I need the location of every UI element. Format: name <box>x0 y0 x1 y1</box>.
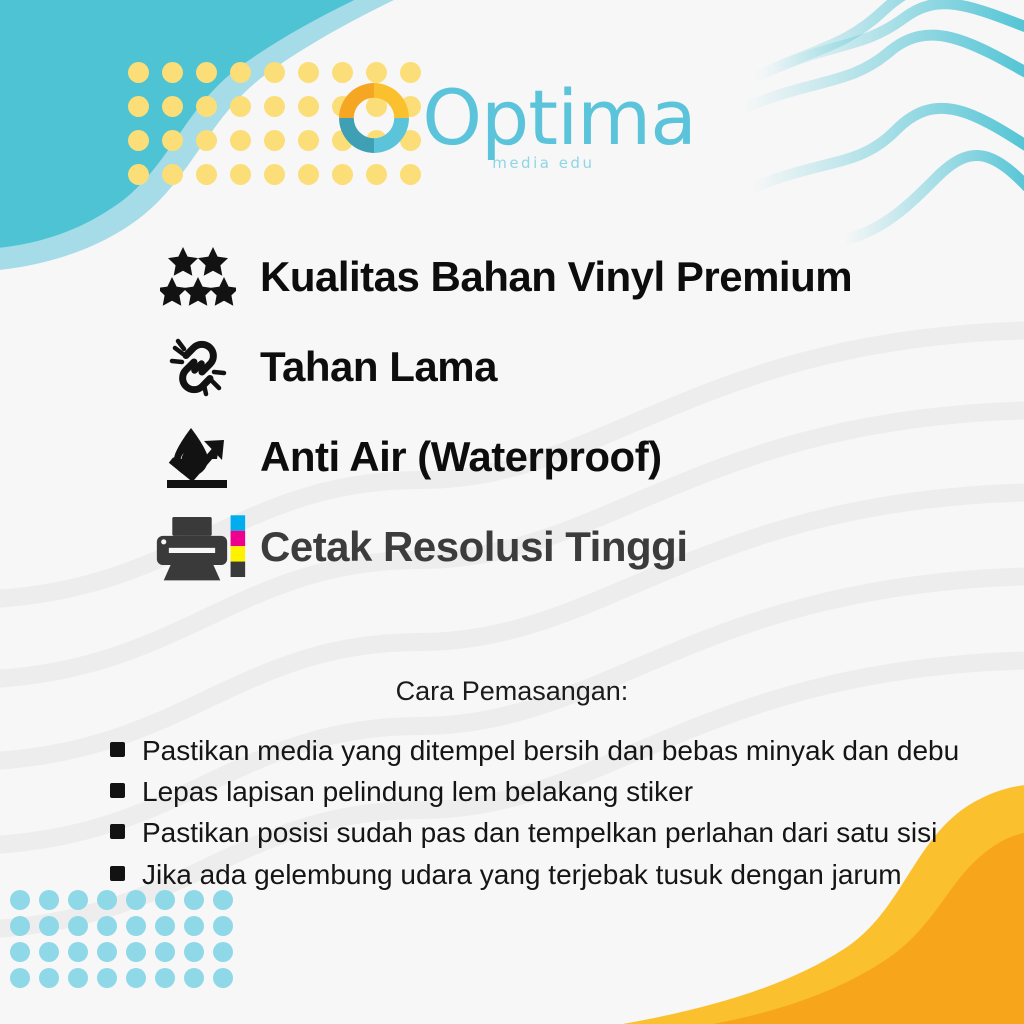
howto-step-text: Jika ada gelembung udara yang terjebak t… <box>142 856 902 893</box>
brand-name: Optima <box>422 82 696 154</box>
printer-cmyk-icon <box>150 508 246 586</box>
square-bullet-icon <box>110 824 125 839</box>
feature-row-resolution: Cetak Resolusi Tinggi <box>0 502 1024 592</box>
list-item: Pastikan posisi sudah pas dan tempelkan … <box>110 814 940 851</box>
howto-title: Cara Pemasangan: <box>0 676 1024 707</box>
product-feature-card: Optima media edu <box>0 0 1024 1024</box>
brand-logo: Optima media edu <box>0 72 1024 164</box>
optima-split-circle-icon <box>328 72 420 164</box>
feature-label: Tahan Lama <box>260 343 497 391</box>
howto-step-text: Lepas lapisan pelindung lem belakang sti… <box>142 773 693 810</box>
list-item: Lepas lapisan pelindung lem belakang sti… <box>110 773 940 810</box>
brand-tagline: media edu <box>492 154 594 172</box>
feature-row-quality: Kualitas Bahan Vinyl Premium <box>0 232 1024 322</box>
five-stars-icon <box>150 245 246 309</box>
square-bullet-icon <box>110 866 125 881</box>
howto-step-text: Pastikan media yang ditempel bersih dan … <box>142 732 959 769</box>
square-bullet-icon <box>110 783 125 798</box>
list-item: Pastikan media yang ditempel bersih dan … <box>110 732 940 769</box>
feature-label: Kualitas Bahan Vinyl Premium <box>260 253 852 301</box>
feature-label: Anti Air (Waterproof) <box>260 433 662 481</box>
waterproof-droplet-icon <box>150 420 246 494</box>
feature-row-durability: Tahan Lama <box>0 322 1024 412</box>
feature-row-waterproof: Anti Air (Waterproof) <box>0 412 1024 502</box>
chain-link-icon <box>150 332 246 402</box>
feature-label: Cetak Resolusi Tinggi <box>260 523 688 571</box>
feature-list: Kualitas Bahan Vinyl Premium <box>0 232 1024 592</box>
list-item: Jika ada gelembung udara yang terjebak t… <box>110 856 940 893</box>
howto-list: Pastikan media yang ditempel bersih dan … <box>110 732 940 897</box>
square-bullet-icon <box>110 742 125 757</box>
howto-step-text: Pastikan posisi sudah pas dan tempelkan … <box>142 814 937 851</box>
